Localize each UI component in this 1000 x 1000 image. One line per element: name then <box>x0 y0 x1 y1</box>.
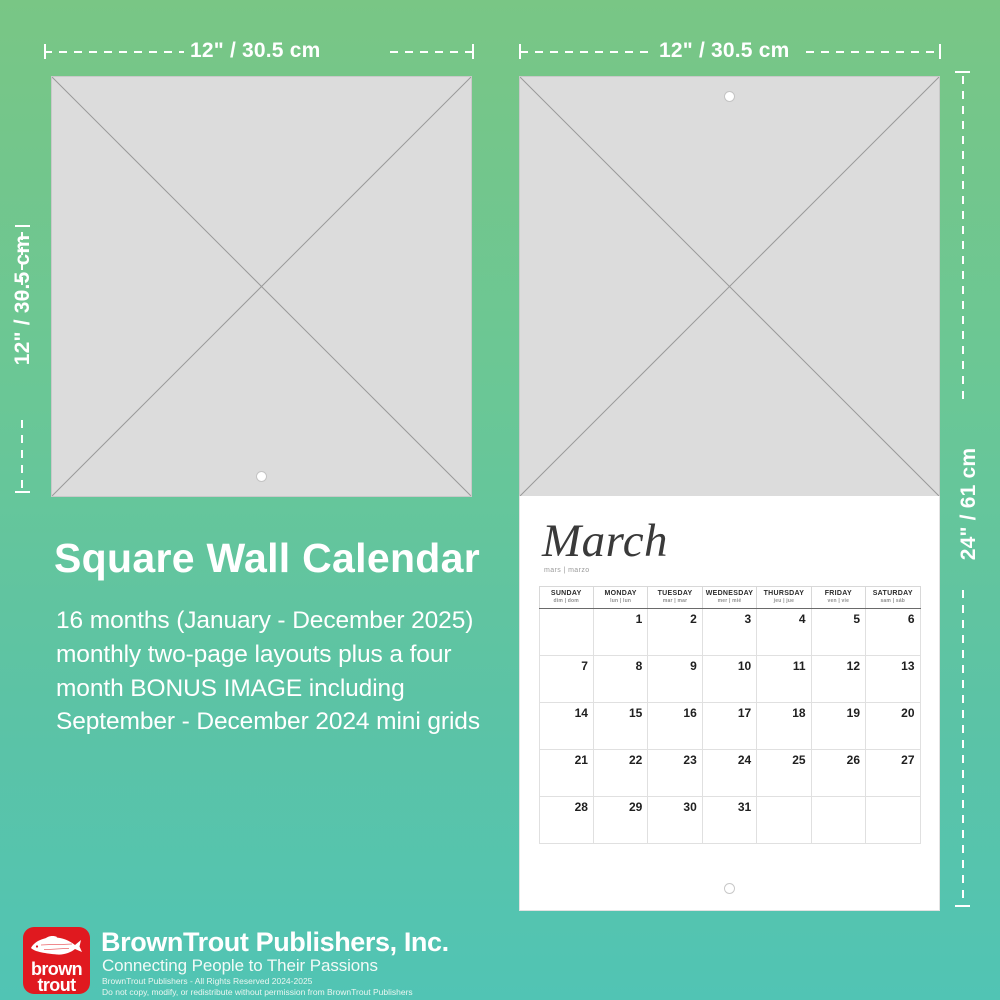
weekday-label-en: TUESDAY <box>648 590 701 598</box>
calendar-day-cell[interactable]: 14 <box>539 702 593 749</box>
calendar-day-cell[interactable]: 5 <box>811 608 865 655</box>
calendar-day-cell[interactable]: 24 <box>702 749 756 796</box>
logo-word-trout: trout <box>23 976 90 994</box>
calendar-day-cell[interactable]: 9 <box>648 655 702 702</box>
calendar-day-cell[interactable]: 20 <box>866 702 920 749</box>
dimension-label-right-width: 12" / 30.5 cm <box>659 39 789 63</box>
calendar-day-cell[interactable]: 8 <box>593 655 647 702</box>
calendar-day-cell[interactable]: 21 <box>539 749 593 796</box>
calendar-day-cell[interactable]: 30 <box>648 796 702 843</box>
footer-bar: brown trout BrownTrout Publishers, Inc. … <box>0 905 1000 1000</box>
weekday-label-en: THURSDAY <box>757 590 810 598</box>
hole-punch-icon <box>256 471 267 482</box>
dimension-cap-top-left-start <box>44 44 46 59</box>
weekday-label-alt: mer | mié <box>703 598 756 605</box>
placeholder-cross-icon <box>52 77 471 496</box>
dimension-cap-left-top <box>15 225 30 227</box>
calendar-day-cell[interactable]: 26 <box>811 749 865 796</box>
calendar-empty-cell <box>866 796 920 843</box>
calendar-day-cell[interactable]: 11 <box>757 655 811 702</box>
calendar-day-cell[interactable]: 25 <box>757 749 811 796</box>
calendar-weekday-header-monday: MONDAYlun | lun <box>593 587 647 609</box>
calendar-month-subtitle: mars | marzo <box>544 567 939 574</box>
dimension-cap-right-top <box>955 71 970 73</box>
calendar-empty-cell <box>757 796 811 843</box>
calendar-header-row: SUNDAYdim | domMONDAYlun | lunTUESDAYmar… <box>539 587 920 609</box>
product-description: 16 months (January - December 2025) mont… <box>56 604 506 739</box>
dimension-cap-top-left-end <box>472 44 474 59</box>
calendar-day-cell[interactable]: 6 <box>866 608 920 655</box>
dimension-cap-top-right-end <box>939 44 941 59</box>
dimension-rule-top-right-b <box>806 51 940 53</box>
calendar-table: SUNDAYdim | domMONDAYlun | lunTUESDAYmar… <box>539 586 921 844</box>
calendar-week-row: 21222324252627 <box>539 749 920 796</box>
weekday-label-en: SATURDAY <box>866 590 919 598</box>
dimension-rule-right-lower <box>962 590 964 906</box>
calendar-day-cell[interactable]: 1 <box>593 608 647 655</box>
dimension-rule-right-upper <box>962 76 964 406</box>
calendar-day-cell[interactable]: 28 <box>539 796 593 843</box>
publisher-name: BrownTrout Publishers, Inc. <box>101 927 449 958</box>
trout-fish-icon <box>29 933 84 959</box>
dimension-cap-top-right-start <box>519 44 521 59</box>
hole-punch-icon <box>724 883 735 894</box>
calendar-day-cell[interactable]: 4 <box>757 608 811 655</box>
calendar-empty-cell <box>539 608 593 655</box>
hole-punch-icon <box>724 91 735 102</box>
dimension-rule-top-right-a <box>520 51 650 53</box>
browntrout-logo: brown trout <box>23 927 90 994</box>
weekday-label-alt: lun | lun <box>594 598 647 605</box>
calendar-week-row: 123456 <box>539 608 920 655</box>
weekday-label-alt: dim | dom <box>540 598 593 605</box>
calendar-day-cell[interactable]: 31 <box>702 796 756 843</box>
calendar-day-cell[interactable]: 23 <box>648 749 702 796</box>
publisher-tagline: Connecting People to Their Passions <box>102 956 378 976</box>
calendar-weekday-header-wednesday: WEDNESDAYmer | mié <box>702 587 756 609</box>
weekday-label-en: FRIDAY <box>812 590 865 598</box>
calendar-month-title: March <box>542 518 939 565</box>
calendar-week-row: 14151617181920 <box>539 702 920 749</box>
dimension-label-right-height: 24" / 61 cm <box>957 434 981 574</box>
dimension-label-left-width: 12" / 30.5 cm <box>190 39 320 63</box>
calendar-day-cell[interactable]: 7 <box>539 655 593 702</box>
weekday-label-alt: ven | vie <box>812 598 865 605</box>
legal-notice: BrownTrout Publishers - All Rights Reser… <box>102 976 413 998</box>
calendar-day-cell[interactable]: 12 <box>811 655 865 702</box>
dimension-rule-top-left-a <box>44 51 184 53</box>
calendar-day-cell[interactable]: 19 <box>811 702 865 749</box>
calendar-spread-right: March mars | marzo SUNDAYdim | domMONDAY… <box>519 76 940 911</box>
weekday-label-alt: mar | mar <box>648 598 701 605</box>
placeholder-cross-icon <box>520 77 939 496</box>
dimension-rule-left-lower <box>21 420 23 492</box>
calendar-image-panel-left <box>51 76 472 497</box>
calendar-empty-cell <box>811 796 865 843</box>
calendar-day-cell[interactable]: 22 <box>593 749 647 796</box>
calendar-weekday-header-thursday: THURSDAYjeu | jue <box>757 587 811 609</box>
calendar-day-cell[interactable]: 2 <box>648 608 702 655</box>
calendar-day-cell[interactable]: 3 <box>702 608 756 655</box>
calendar-day-cell[interactable]: 29 <box>593 796 647 843</box>
dimension-label-left-height: 12" / 30.5 cm <box>11 230 35 370</box>
calendar-day-cell[interactable]: 18 <box>757 702 811 749</box>
calendar-image-panel-right <box>519 76 940 497</box>
weekday-label-en: SUNDAY <box>540 590 593 598</box>
calendar-day-cell[interactable]: 27 <box>866 749 920 796</box>
page-title: Square Wall Calendar <box>54 538 480 579</box>
dimension-rule-top-left-b <box>390 51 474 53</box>
weekday-label-alt: sam | sáb <box>866 598 919 605</box>
legal-line-1: BrownTrout Publishers - All Rights Reser… <box>102 976 413 987</box>
calendar-day-cell[interactable]: 10 <box>702 655 756 702</box>
legal-line-2: Do not copy, modify, or redistribute wit… <box>102 987 413 998</box>
calendar-weekday-header-friday: FRIDAYven | vie <box>811 587 865 609</box>
calendar-day-cell[interactable]: 15 <box>593 702 647 749</box>
calendar-day-cell[interactable]: 16 <box>648 702 702 749</box>
calendar-day-cell[interactable]: 13 <box>866 655 920 702</box>
calendar-grid-page: March mars | marzo SUNDAYdim | domMONDAY… <box>519 496 940 911</box>
calendar-day-cell[interactable]: 17 <box>702 702 756 749</box>
weekday-label-alt: jeu | jue <box>757 598 810 605</box>
calendar-week-row: 28293031 <box>539 796 920 843</box>
calendar-week-row: 78910111213 <box>539 655 920 702</box>
weekday-label-en: MONDAY <box>594 590 647 598</box>
calendar-weekday-header-tuesday: TUESDAYmar | mar <box>648 587 702 609</box>
calendar-weekday-header-sunday: SUNDAYdim | dom <box>539 587 593 609</box>
calendar-weekday-header-saturday: SATURDAYsam | sáb <box>866 587 920 609</box>
weekday-label-en: WEDNESDAY <box>703 590 756 598</box>
